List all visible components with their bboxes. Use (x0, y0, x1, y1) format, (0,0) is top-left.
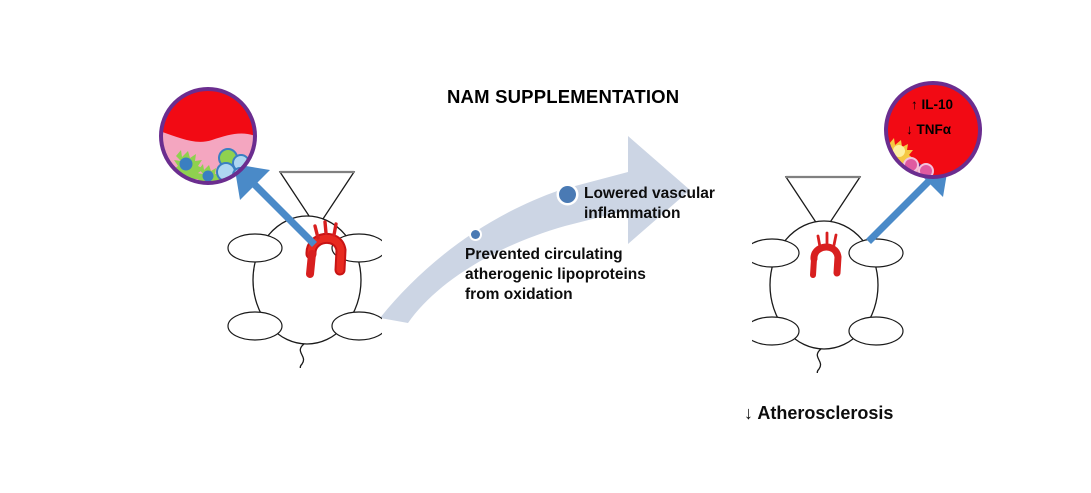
bullet-dot-prevented-oxidation (471, 230, 480, 239)
bullet-dot-lowered-inflammation (559, 186, 576, 203)
nam-atherosclerosis-figure: NAM SUPPLEMENTATION Lowered vascular inf… (0, 0, 1091, 493)
cytokine-label-il10: ↑ IL-10 (911, 97, 953, 112)
vessel-cross-section-atherosclerotic (156, 84, 260, 188)
bullet-label-lowered-inflammation: Lowered vascular inflammation (584, 184, 744, 224)
page-title: NAM SUPPLEMENTATION (447, 86, 679, 108)
cytokine-label-tnfa: ↓ TNFα (906, 122, 951, 137)
bullet-label-prevented-oxidation: Prevented circulating atherogenic lipopr… (465, 245, 675, 305)
outcome-label-atherosclerosis: ↓ Atherosclerosis (744, 403, 893, 424)
